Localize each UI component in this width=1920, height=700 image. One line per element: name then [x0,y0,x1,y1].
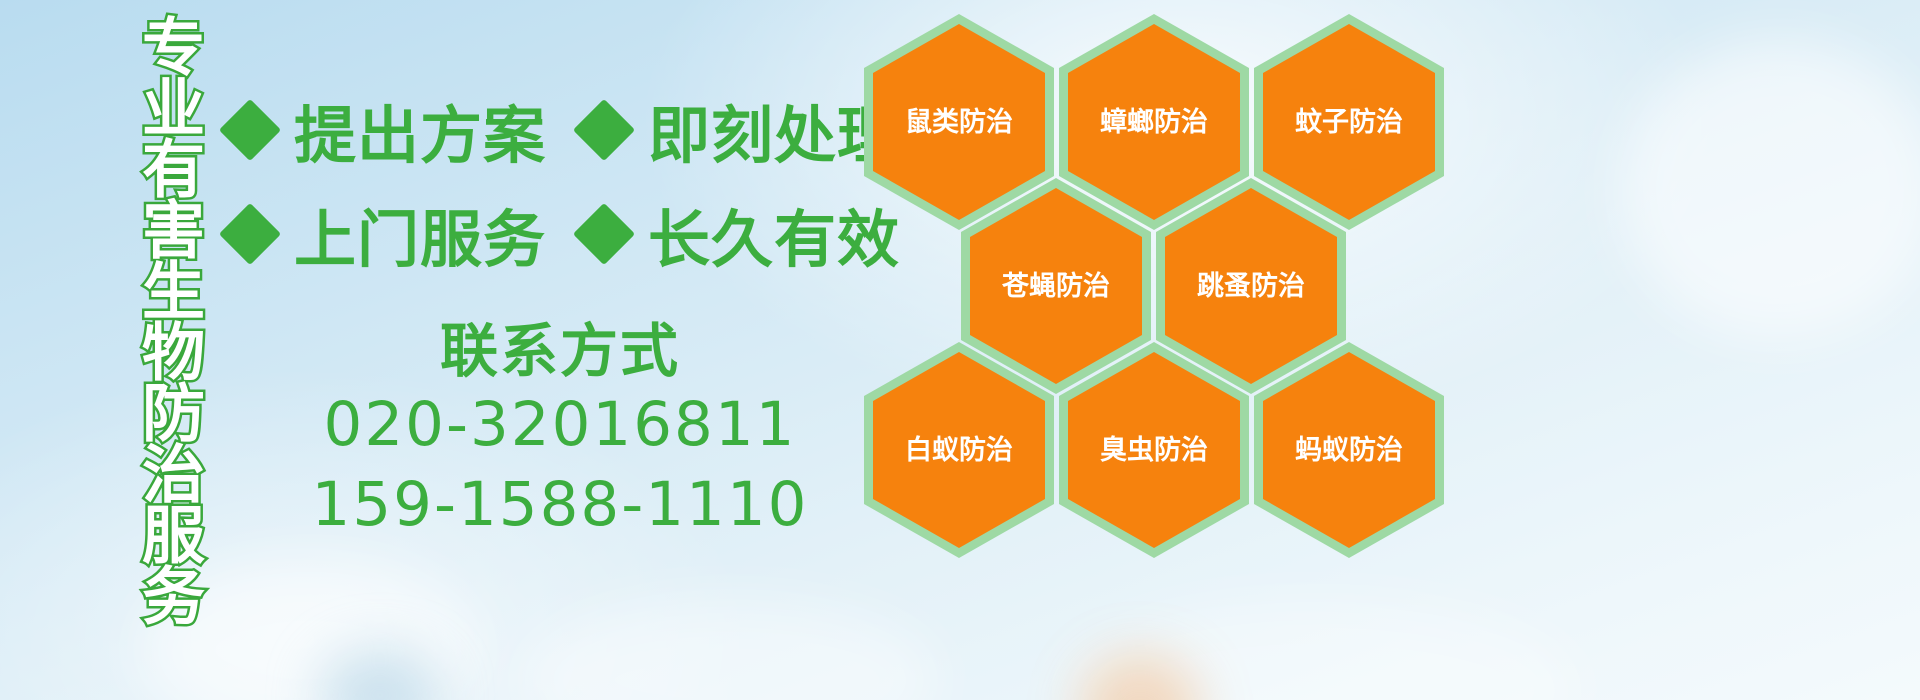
background-blob [1080,655,1200,700]
background-blob [520,600,940,700]
feature-row-2: 上门服务 长久有效 [228,182,868,286]
contact-block: 联系方式 020-32016811 159-1588-1110 [300,318,820,546]
service-hex-label: 蚂蚁防治 [1295,437,1403,464]
service-honeycomb: 鼠类防治 蟑螂防治 蚊子防治 苍蝇防治 跳蚤防治 白蚁防治 [856,6,1456,566]
service-hex-label: 臭虫防治 [1100,437,1208,464]
hex-inner-fill: 跳蚤防治 [1165,188,1337,384]
background-blob [1060,600,1580,700]
hex-inner-fill: 蚂蚁防治 [1263,352,1435,548]
diamond-bullet-icon [219,203,281,265]
service-hex-label: 蚊子防治 [1295,109,1403,136]
contact-heading: 联系方式 [300,318,820,385]
vertical-company-slogan: 专业有害生物防治服务 [108,14,200,624]
feature-list: 提出方案 即刻处理 上门服务 长久有效 [228,78,868,286]
diamond-bullet-icon [573,99,635,161]
hex-inner-fill: 蟑螂防治 [1068,24,1240,220]
phone-number-mobile[interactable]: 159-1588-1110 [300,465,820,546]
hex-inner-fill: 苍蝇防治 [970,188,1142,384]
hex-inner-fill: 鼠类防治 [873,24,1045,220]
background-blob [1620,40,1920,340]
hex-inner-fill: 臭虫防治 [1068,352,1240,548]
service-hex-label: 鼠类防治 [905,109,1013,136]
hex-inner-fill: 白蚁防治 [873,352,1045,548]
service-hex-label: 蟑螂防治 [1100,109,1208,136]
phone-number-landline[interactable]: 020-32016811 [300,385,820,466]
feature-item-label: 提出方案 [294,85,546,175]
service-hex-label: 苍蝇防治 [1002,273,1110,300]
feature-row-1: 提出方案 即刻处理 [228,78,868,182]
diamond-bullet-icon [219,99,281,161]
feature-item-label: 上门服务 [294,189,546,279]
background-blob [320,650,440,700]
service-hex-label: 跳蚤防治 [1197,273,1305,300]
service-hex-label: 白蚁防治 [905,437,1013,464]
pest-control-banner: 专业有害生物防治服务 提出方案 即刻处理 上门服务 长久有效 联系方式 020-… [0,0,1920,700]
hex-inner-fill: 蚊子防治 [1263,24,1435,220]
diamond-bullet-icon [573,203,635,265]
